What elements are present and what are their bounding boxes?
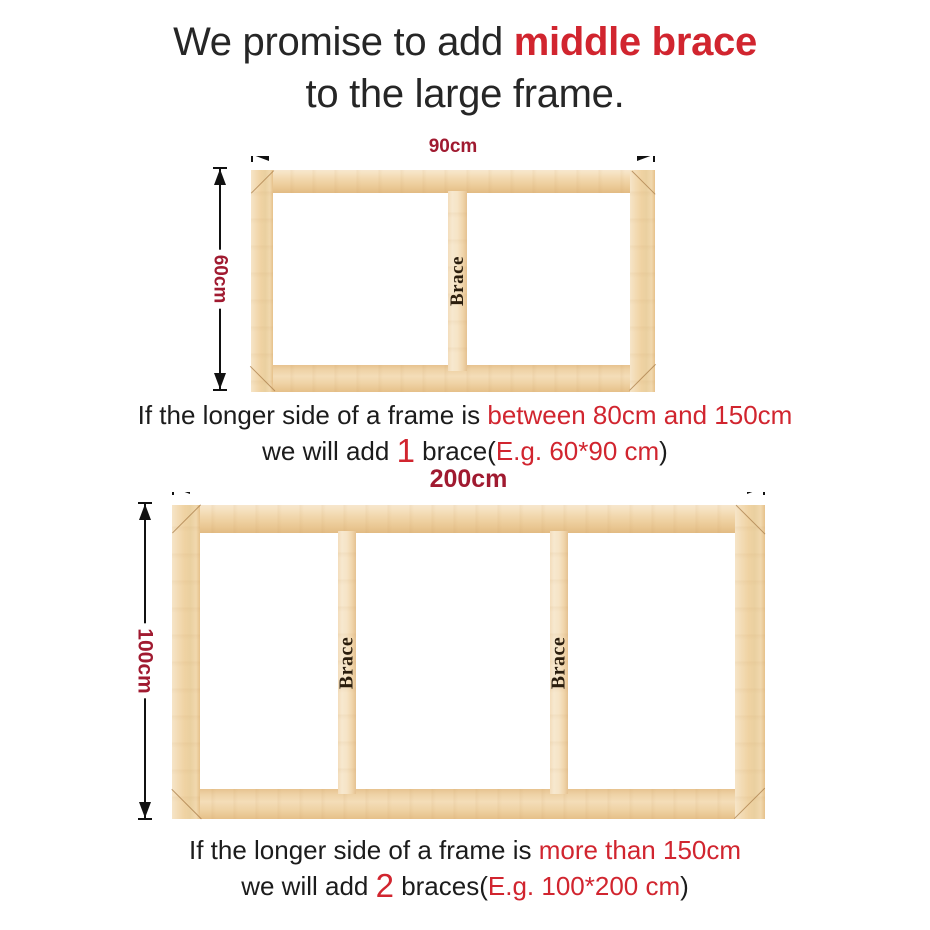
- caption-small-example: E.g. 60*90 cm: [496, 436, 659, 466]
- caption-large-line-2-suffix: ): [680, 871, 689, 901]
- caption-large-line-2-mid: braces(: [394, 871, 488, 901]
- arrow-down-icon: [214, 373, 226, 389]
- caption-large-brace-count: 2: [376, 867, 394, 904]
- page-title: We promise to add middle brace to the la…: [0, 16, 930, 120]
- caption-large-line-2: we will add 2 braces(E.g. 100*200 cm): [0, 868, 930, 904]
- title-line-1-prefix: We promise to add: [173, 20, 514, 64]
- width-dimension-label: 200cm: [424, 467, 514, 492]
- height-dimension-label: 100cm: [132, 623, 159, 698]
- caption-small-line-2-prefix: we will add: [262, 436, 396, 466]
- arrow-down-icon: [139, 802, 151, 818]
- caption-small-line-1-prefix: If the longer side of a frame is: [138, 400, 488, 430]
- frame-diagram-small: 90cm 60cm Brace: [205, 143, 655, 393]
- brace-vertical-1: Brace: [338, 531, 356, 794]
- caption-large-line-2-prefix: we will add: [241, 871, 375, 901]
- brace-label: Brace: [447, 256, 469, 306]
- width-dimension-label-wrap: 90cm: [251, 137, 655, 156]
- brace-label: Brace: [336, 636, 359, 688]
- caption-large-line-1: If the longer side of a frame is more th…: [0, 833, 930, 868]
- brace-vertical-1: Brace: [448, 191, 467, 371]
- wooden-frame-large: Brace Brace: [172, 505, 765, 819]
- height-dimension-small: 60cm: [213, 167, 227, 391]
- caption-small: If the longer side of a frame is between…: [0, 398, 930, 469]
- title-line-2: to the large frame.: [0, 68, 930, 120]
- caption-large-line-1-accent: more than 150cm: [539, 835, 741, 865]
- brace-vertical-2: Brace: [550, 531, 568, 794]
- frame-rail-bottom: [172, 789, 765, 819]
- width-dimension-large: 200cm: [172, 481, 765, 495]
- caption-small-line-1-accent: between 80cm and 150cm: [487, 400, 792, 430]
- frame-diagram-large: 200cm 100cm Brace Brace: [130, 478, 765, 823]
- arrow-up-icon: [214, 169, 226, 185]
- caption-small-line-2-mid: brace(: [415, 436, 496, 466]
- width-dimension-label: 90cm: [423, 137, 484, 156]
- caption-small-line-2-suffix: ): [659, 436, 668, 466]
- width-dimension-small: 90cm: [251, 148, 655, 162]
- brace-label: Brace: [548, 636, 571, 688]
- title-line-1: We promise to add middle brace: [0, 16, 930, 68]
- caption-large-example: E.g. 100*200 cm: [488, 871, 680, 901]
- height-dimension-label: 60cm: [208, 250, 233, 309]
- arrow-up-icon: [139, 504, 151, 520]
- caption-small-line-1: If the longer side of a frame is between…: [0, 398, 930, 433]
- frame-rail-top: [251, 170, 655, 193]
- frame-rail-right: [735, 505, 765, 819]
- width-dimension-label-wrap: 200cm: [172, 467, 765, 492]
- title-line-1-accent: middle brace: [514, 20, 757, 64]
- caption-large: If the longer side of a frame is more th…: [0, 833, 930, 904]
- frame-rail-top: [172, 505, 765, 533]
- frame-rail-left: [251, 170, 273, 392]
- frame-rail-right: [630, 170, 655, 392]
- caption-small-line-2: we will add 1 brace(E.g. 60*90 cm): [0, 433, 930, 469]
- caption-large-line-1-prefix: If the longer side of a frame is: [189, 835, 539, 865]
- frame-rail-left: [172, 505, 200, 819]
- height-dimension-large: 100cm: [138, 502, 152, 820]
- caption-small-brace-count: 1: [397, 432, 415, 469]
- wooden-frame-small: Brace: [251, 170, 655, 392]
- frame-inner-area: [200, 533, 735, 789]
